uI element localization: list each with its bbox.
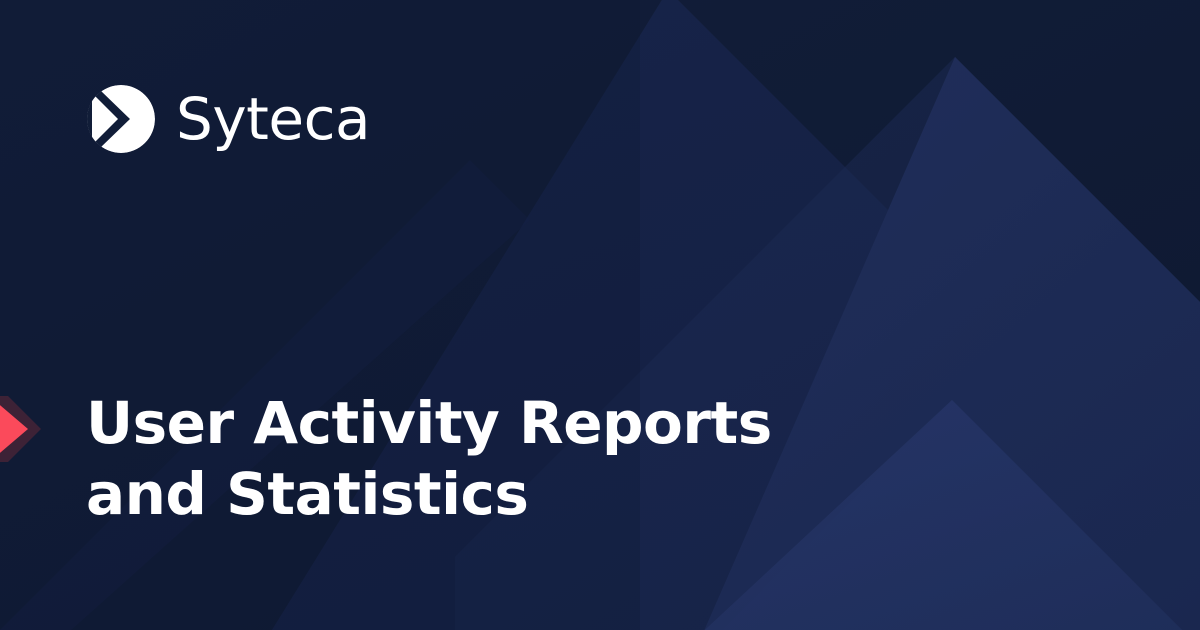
og-card: Syteca User Activity Reports and Statist… [0,0,1200,630]
brand-wordmark: Syteca [176,90,370,148]
page-title-line-1: User Activity Reports [86,388,866,459]
page-title: User Activity Reports and Statistics [86,388,866,530]
page-title-line-2: and Statistics [86,459,866,530]
brand-logo-lockup: Syteca [86,84,370,154]
red-chevron-accent [0,396,58,462]
syteca-chevron-circle-logo [86,84,156,154]
